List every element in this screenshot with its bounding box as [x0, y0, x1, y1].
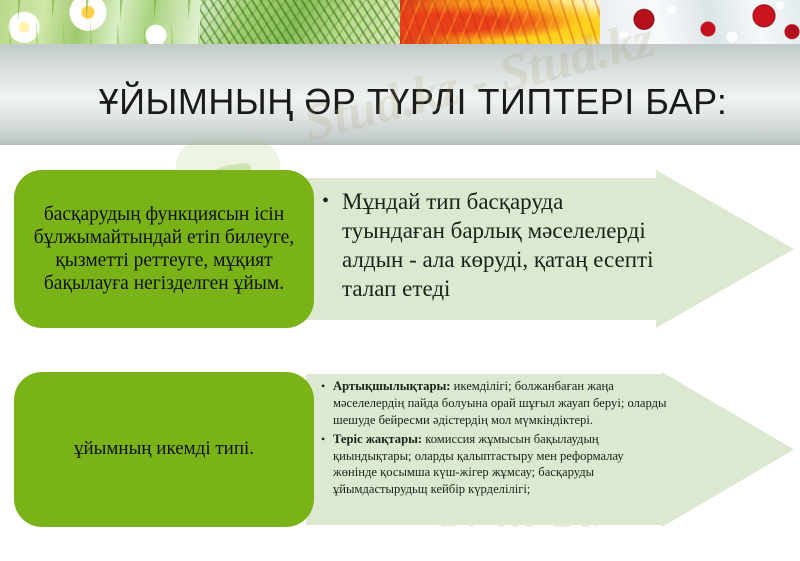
title-band: ҰЙЫМНЫҢ ӘР ТҮРЛІ ТИПТЕРІ БАР: [0, 44, 800, 145]
list-item: Мұндай тип басқаруда туындаған барлық мә… [320, 188, 666, 304]
green-label-box-1: басқарудың функциясын ісін бұлжымайтында… [14, 170, 314, 328]
bullet-list-1: Мұндай тип басқаруда туындаған барлық мә… [320, 188, 666, 304]
spring-daisies-photo [0, 0, 200, 44]
bullet-list-2: Артықшылықтары: икемділігі; болжанбаған … [320, 378, 668, 498]
content-row-2: Артықшылықтары: икемділігі; болжанбаған … [0, 372, 800, 527]
arrow-callout-1: Мұндай тип басқаруда туындаған барлық мә… [306, 170, 794, 328]
bullet-lead: Теріс жақтары: [333, 432, 422, 446]
bottom-margin [0, 527, 800, 561]
green-label-text-2: ұйымның икемді типі. [74, 438, 254, 460]
slide-title: ҰЙЫМНЫҢ ӘР ТҮРЛІ ТИПТЕРІ БАР: [73, 67, 728, 123]
autumn-leaves-photo [400, 0, 600, 44]
arrow-content-1: Мұндай тип басқаруда туындаған барлық мә… [320, 188, 672, 304]
arrow-callout-2: Артықшылықтары: икемділігі; болжанбаған … [306, 372, 794, 527]
seasons-photo-banner [0, 0, 800, 44]
green-label-text-1: басқарудың функциясын ісін бұлжымайтында… [28, 203, 300, 295]
slide-canvas: ҰЙЫМНЫҢ ӘР ТҮРЛІ ТИПТЕРІ БАР: Stud.kz - … [0, 0, 800, 561]
bullet-text: Мұндай тип басқаруда туындаған барлық мә… [342, 189, 654, 301]
bullet-lead: Артықшылықтары: [333, 379, 451, 393]
green-label-box-2: ұйымның икемді типі. [14, 372, 314, 527]
list-item: Артықшылықтары: икемділігі; болжанбаған … [320, 378, 668, 429]
winter-berries-photo [600, 0, 800, 44]
list-item: Теріс жақтары: комиссия жұмысын бақылауд… [320, 431, 668, 499]
summer-palm-photo [200, 0, 400, 44]
arrow-content-2: Артықшылықтары: икемділігі; болжанбаған … [320, 378, 672, 500]
content-row-1: Мұндай тип басқаруда туындаған барлық мә… [0, 170, 800, 328]
